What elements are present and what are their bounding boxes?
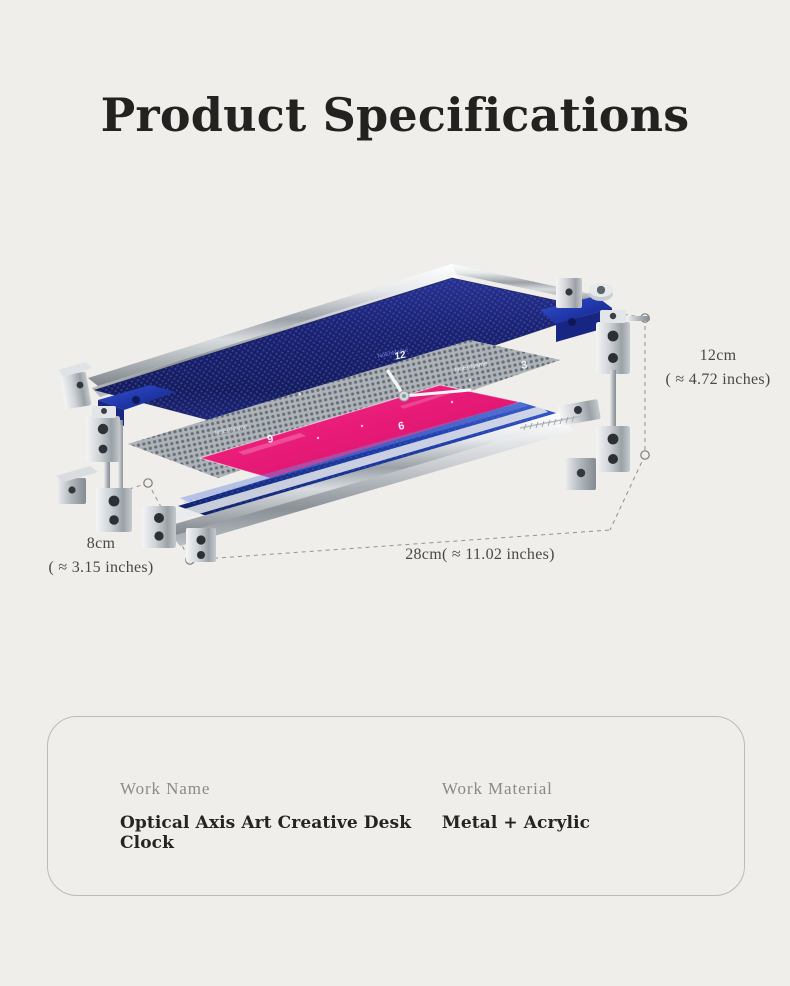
dimension-depth-cm: 8cm	[6, 532, 196, 556]
spec-item-work-name: Work Name Optical Axis Art Creative Desk…	[120, 779, 442, 853]
dimension-width-label: 28cm( ≈ 11.02 inches)	[300, 543, 660, 567]
spec-value-work-name: Optical Axis Art Creative Desk Clock	[120, 813, 442, 853]
specification-card: Work Name Optical Axis Art Creative Desk…	[47, 716, 745, 896]
product-specifications-page: Product Specifications	[0, 0, 790, 986]
dimension-height-label: 12cm ( ≈ 4.72 inches)	[648, 344, 788, 392]
specification-grid: Work Name Optical Axis Art Creative Desk…	[120, 779, 740, 853]
spec-label-work-name: Work Name	[120, 779, 442, 799]
clock-numeral-12: 12	[394, 349, 406, 362]
dimension-depth-inches: ( ≈ 3.15 inches)	[6, 556, 196, 580]
dimension-depth-label: 8cm ( ≈ 3.15 inches)	[6, 532, 196, 580]
dimension-height-inches: ( ≈ 4.72 inches)	[648, 368, 788, 392]
page-title: Product Specifications	[0, 88, 790, 142]
dimension-width-value: 28cm( ≈ 11.02 inches)	[300, 543, 660, 567]
spec-value-work-material: Metal + Acrylic	[442, 813, 740, 833]
spec-item-work-material: Work Material Metal + Acrylic	[442, 779, 740, 853]
spec-label-work-material: Work Material	[442, 779, 740, 799]
dimension-height-cm: 12cm	[648, 344, 788, 368]
